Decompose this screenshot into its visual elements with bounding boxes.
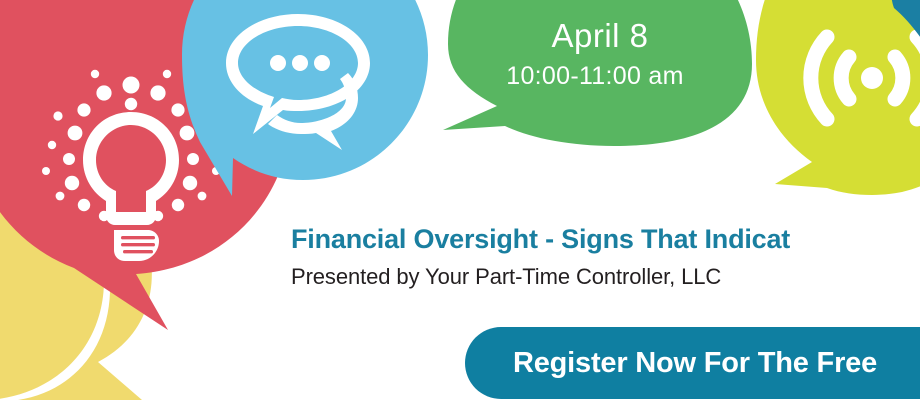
presenter-subtitle: Presented by Your Part-Time Controller, … <box>291 262 920 292</box>
green-bubble <box>443 0 752 146</box>
light-blue-bubble <box>182 0 428 196</box>
page-title: Financial Oversight - Signs That Indicat <box>291 222 920 256</box>
register-button[interactable]: Register Now For The Free <box>465 327 920 399</box>
webinar-banner: April 8 10:00-11:00 am Financial Oversig… <box>0 0 920 400</box>
event-text-block: Financial Oversight - Signs That Indicat… <box>291 222 920 292</box>
